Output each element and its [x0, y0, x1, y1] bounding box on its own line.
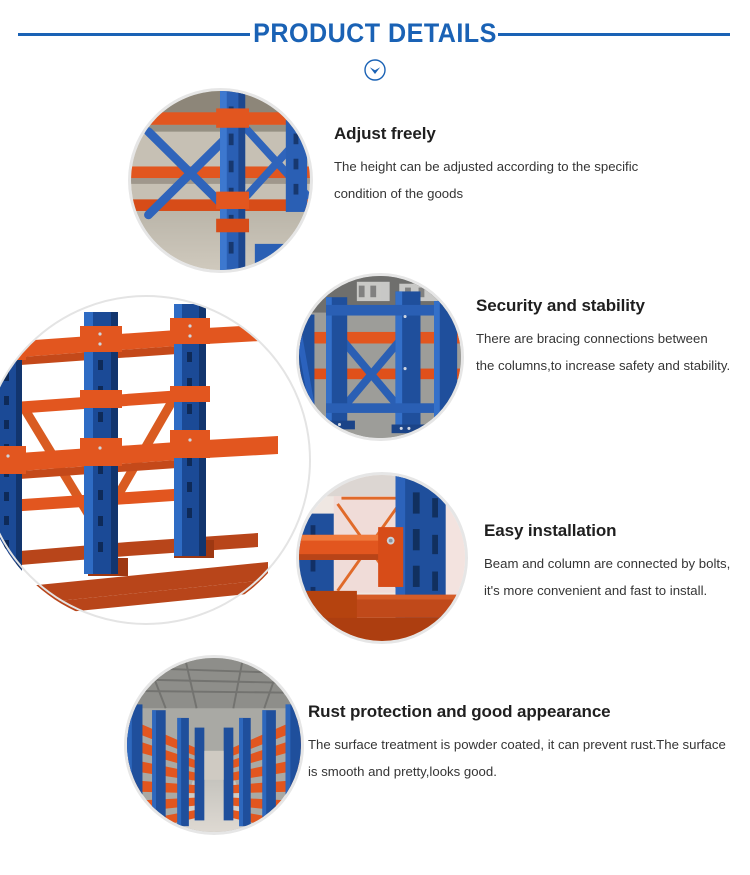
feature-text-easy-installation: Easy installation Beam and column are co…: [484, 521, 750, 604]
feature-body-line-2: condition of the goods: [334, 180, 734, 207]
feature-body-line-1: The height can be adjusted according to …: [334, 153, 734, 180]
feature-image-rust-protection: [124, 655, 304, 835]
feature-body-line-1: The surface treatment is powder coated, …: [308, 731, 748, 758]
feature-text-adjust-freely: Adjust freely The height can be adjusted…: [334, 124, 734, 207]
feature-text-rust-protection: Rust protection and good appearance The …: [308, 702, 748, 785]
feature-image-adjust-freely: [128, 88, 313, 273]
chevron-down-circle-icon: [361, 56, 389, 84]
feature-body-line-2: the columns,to increase safety and stabi…: [476, 352, 750, 379]
page-title: PRODUCT DETAILS: [26, 18, 724, 48]
page-header: PRODUCT DETAILS: [0, 0, 750, 90]
feature-body-line-1: There are bracing connections between: [476, 325, 750, 352]
warehouse-aisle-perspective-photo: [127, 658, 301, 832]
feature-heading: Rust protection and good appearance: [308, 702, 748, 722]
feature-image-easy-installation: [296, 472, 468, 644]
feature-heading: Adjust freely: [334, 124, 734, 144]
blue-frame-bracing-photo: [299, 276, 461, 438]
feature-body-line-2: is smooth and pretty,looks good.: [308, 758, 748, 785]
feature-image-security-and-stability: [296, 273, 464, 441]
feature-body-line-1: Beam and column are connected by bolts,: [484, 550, 750, 577]
feature-heading: Security and stability: [476, 296, 750, 316]
feature-heading: Easy installation: [484, 521, 750, 541]
beam-bolt-connection-photo: [299, 475, 465, 641]
rack-x-bracing-closeup-photo: [131, 91, 310, 270]
feature-body-line-2: it's more convenient and fast to install…: [484, 577, 750, 604]
feature-text-security-and-stability: Security and stability There are bracing…: [476, 296, 750, 379]
